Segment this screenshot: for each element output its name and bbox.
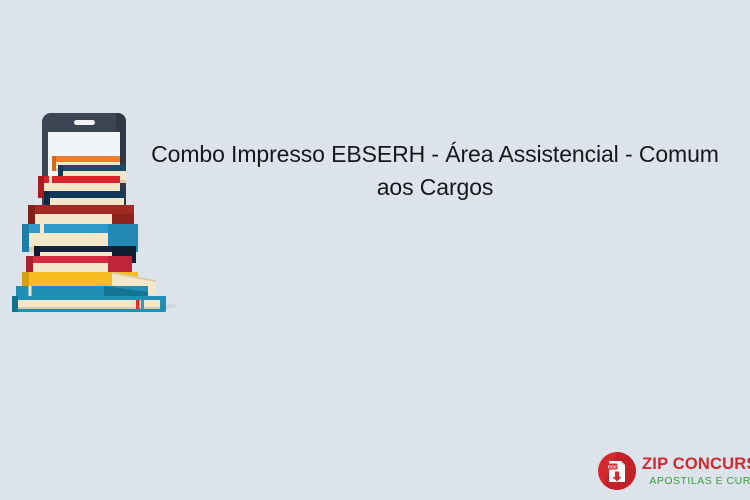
brand-name: ZIP CONCURSOS [642, 456, 750, 473]
pdf-download-icon: PDF [598, 452, 636, 490]
book-base-teal [12, 296, 166, 312]
brand-tagline: APOSTILAS E CURSOS [642, 476, 750, 487]
brand-logo[interactable]: PDF ZIP CONCURSOS APOSTILAS E CURSOS [598, 450, 746, 492]
product-title: Combo Impresso EBSERH - Área Assistencia… [138, 138, 732, 204]
svg-text:PDF: PDF [608, 464, 617, 469]
brand-wordmark: ZIP CONCURSOS APOSTILAS E CURSOS [642, 456, 750, 486]
product-banner: Combo Impresso EBSERH - Área Assistencia… [0, 0, 750, 500]
